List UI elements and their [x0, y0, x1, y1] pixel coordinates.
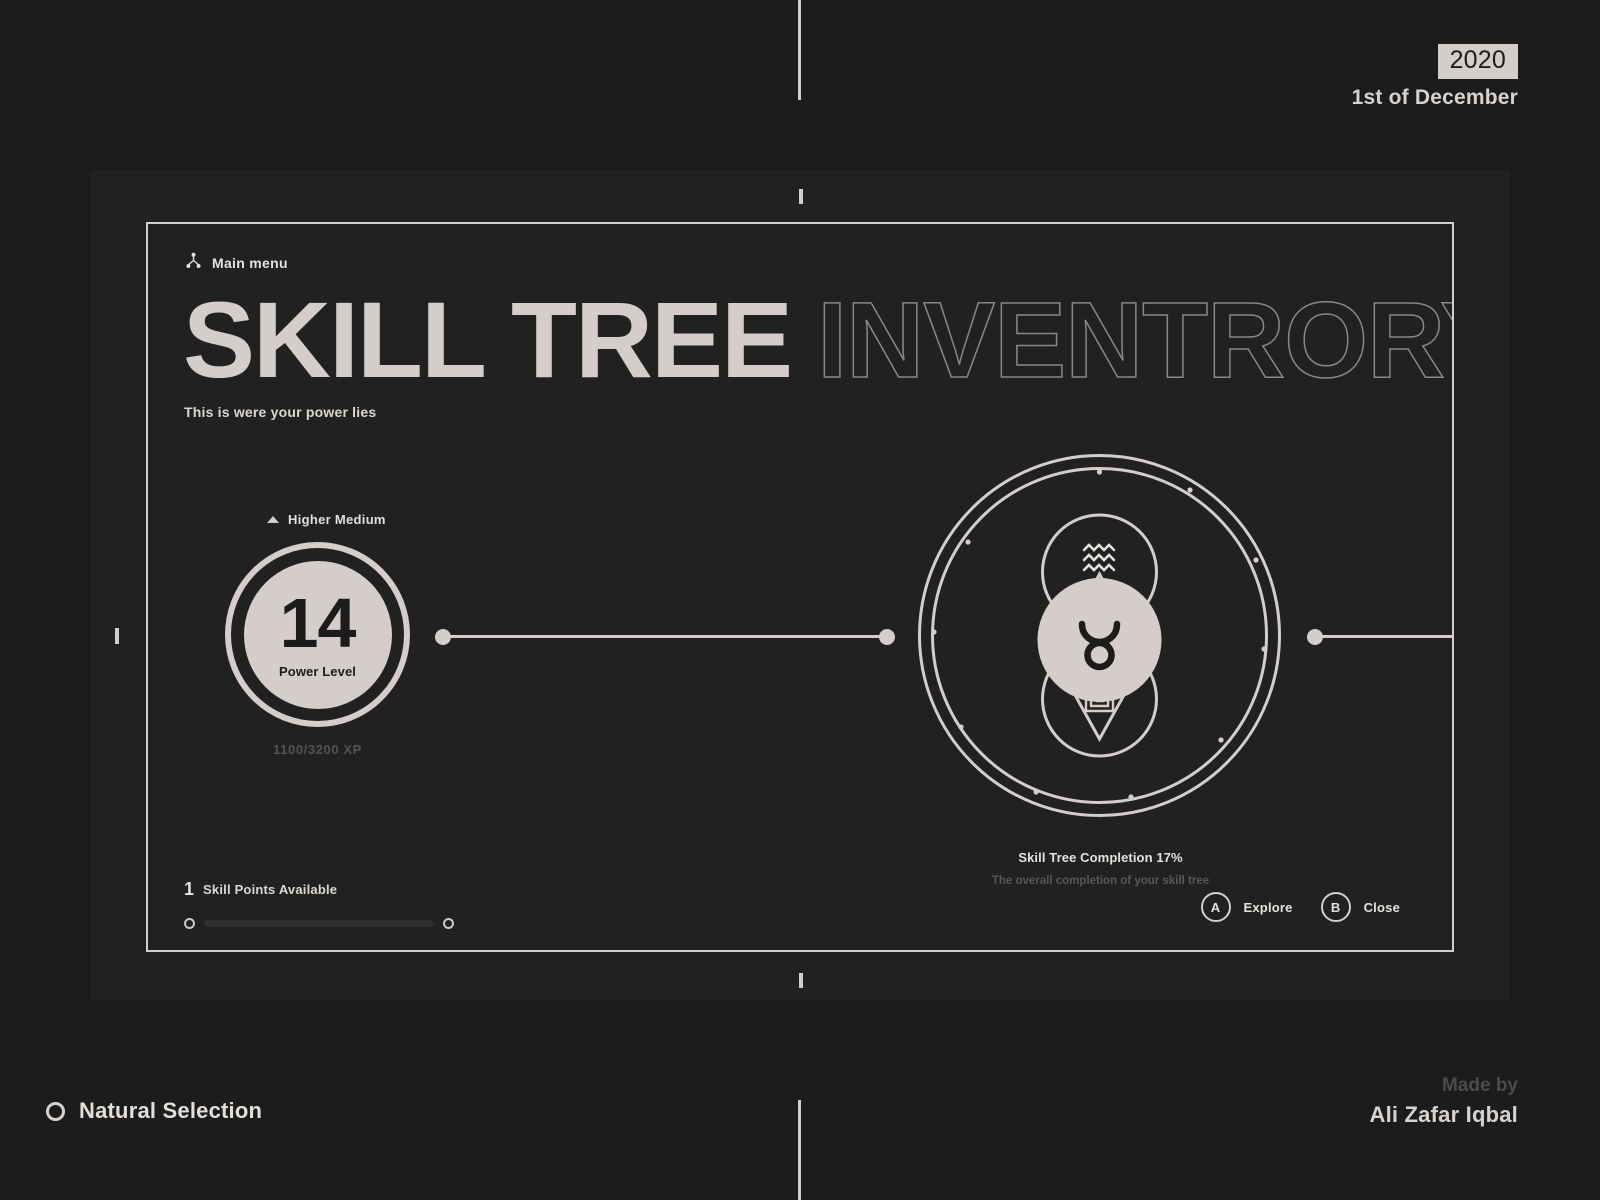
close-button[interactable]: B Close — [1321, 892, 1400, 922]
connector-line-left — [447, 635, 893, 638]
title-outline: INVENTRORY — [817, 286, 1454, 394]
page-title: SKILL TREE INVENTRORY — [183, 286, 1454, 394]
action-buttons: A Explore B Close — [1201, 892, 1401, 922]
app-root: 2020 1st of December Main menu SKILL TRE… — [0, 0, 1600, 1200]
author-name: Ali Zafar Iqbal — [1370, 1102, 1518, 1128]
skill-tree-emblem[interactable] — [916, 452, 1283, 819]
footer-author-group: Made by Ali Zafar Iqbal — [1370, 1075, 1518, 1128]
power-level-caption: Power Level — [279, 664, 356, 679]
xp-progress-label: 1100/3200 XP — [225, 742, 410, 757]
slider-knob-start[interactable] — [184, 918, 195, 929]
skill-tree-screen: Main menu SKILL TREE INVENTRORY This is … — [146, 222, 1454, 952]
completion-title: Skill Tree Completion 17% — [948, 850, 1253, 865]
page-tick-top — [798, 0, 801, 100]
footer-brand-group: Natural Selection — [46, 1098, 262, 1124]
caret-up-icon — [267, 516, 279, 523]
year-badge: 2020 — [1438, 44, 1518, 79]
skill-points-label: Skill Points Available — [203, 882, 337, 897]
page-tick-bottom — [798, 1100, 801, 1200]
completion-block: Skill Tree Completion 17% The overall co… — [948, 850, 1253, 890]
page-subtitle: This is were your power lies — [184, 404, 376, 420]
main-menu-button[interactable]: Main menu — [185, 252, 288, 274]
skill-points-indicator: 1 Skill Points Available — [184, 880, 337, 898]
panel-tick-bottom — [799, 973, 803, 988]
explore-button[interactable]: A Explore — [1201, 892, 1293, 922]
button-key-a: A — [1201, 892, 1231, 922]
natural-selection-logo-icon — [46, 1102, 65, 1121]
power-level-node[interactable]: 14 Power Level — [225, 542, 410, 727]
connector-dot-mid — [879, 629, 895, 645]
completion-description: The overall completion of your skill tre… — [948, 874, 1253, 890]
skill-points-slider[interactable] — [184, 917, 454, 929]
slider-knob-end[interactable] — [443, 918, 454, 929]
panel-tick-top — [799, 189, 803, 204]
skill-points-count: 1 — [184, 880, 194, 898]
power-level-disc: 14 Power Level — [244, 561, 392, 709]
header-date: 1st of December — [1352, 86, 1518, 110]
explore-label: Explore — [1244, 900, 1293, 915]
title-solid: SKILL TREE — [183, 286, 791, 394]
rank-indicator: Higher Medium — [267, 512, 386, 527]
close-label: Close — [1364, 900, 1400, 915]
rank-label: Higher Medium — [288, 512, 386, 527]
button-key-b: B — [1321, 892, 1351, 922]
power-level-value: 14 — [280, 590, 356, 657]
footer-brand-label: Natural Selection — [79, 1098, 262, 1124]
panel-tick-left — [115, 628, 119, 644]
main-menu-label: Main menu — [212, 255, 288, 271]
slider-track[interactable] — [204, 920, 434, 927]
made-by-label: Made by — [1370, 1075, 1518, 1097]
tree-node-icon — [185, 252, 202, 274]
connector-line-right — [1318, 635, 1454, 638]
